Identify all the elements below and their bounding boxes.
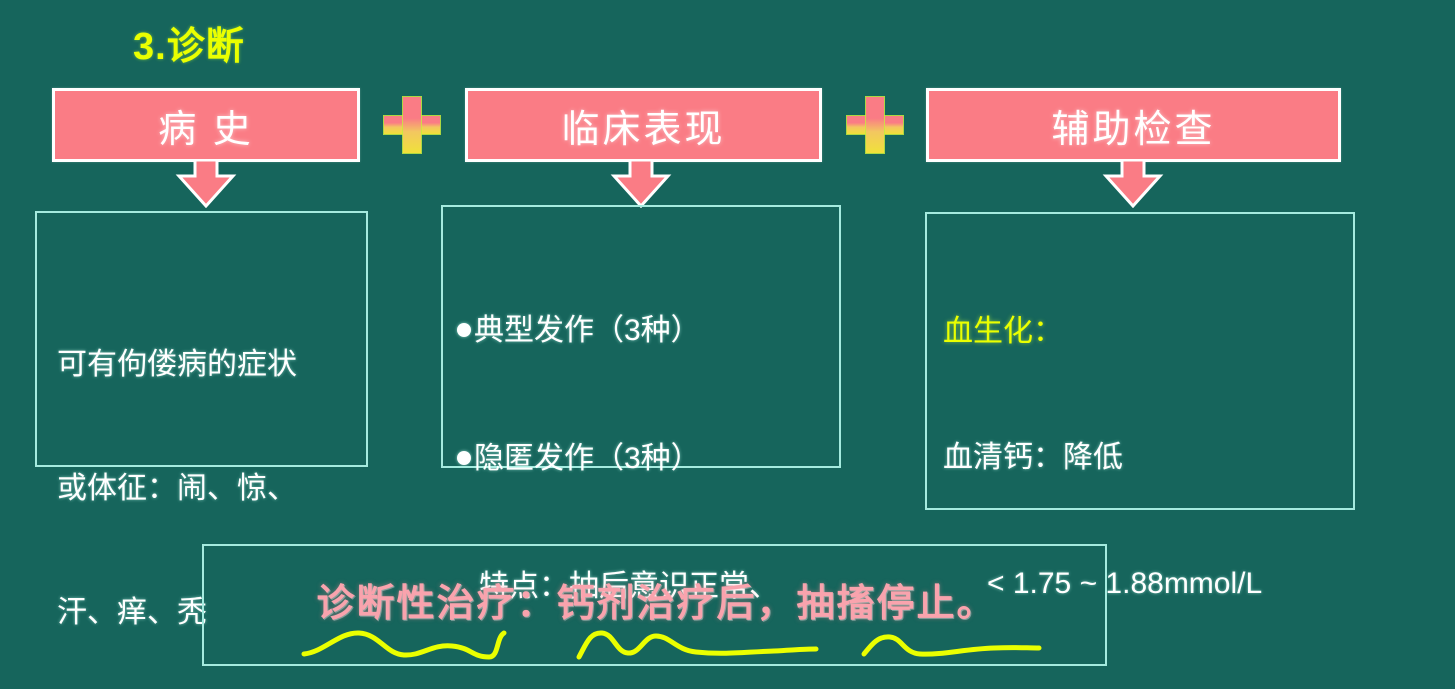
down-arrow-icon: [175, 160, 237, 208]
slide-canvas: 3.诊断 病 史 临床表现 辅助检查 可有佝偻病的症状 或体征：闹: [0, 0, 1455, 689]
plus-icon: [384, 97, 440, 153]
header-box-clinical[interactable]: 临床表现: [465, 88, 822, 162]
page-title: 3.诊断: [133, 15, 245, 70]
header-label-history: 病 史: [158, 98, 254, 153]
auxiliary-line-1: 血清钙：降低: [943, 437, 1353, 478]
bullet-dot-icon: [457, 323, 471, 337]
header-label-clinical: 临床表现: [561, 98, 725, 153]
clinical-bullet-2-label: 隐匿发作（3种）: [474, 442, 701, 475]
down-arrow-icon: [610, 160, 672, 208]
header-box-history[interactable]: 病 史: [52, 88, 360, 162]
content-box-auxiliary: 血生化： 血清钙：降低 < 1.75 ~ 1.88mmol/L 离子钙：降低 <…: [925, 212, 1355, 510]
header-box-auxiliary[interactable]: 辅助检查: [926, 88, 1341, 162]
diagnostic-treatment-text: 诊断性治疗：钙剂治疗后，抽搐停止。: [204, 572, 1109, 627]
clinical-bullet-item: 典型发作（3种）: [457, 310, 832, 351]
history-line-1: 可有佝偻病的症状: [57, 344, 357, 385]
content-box-history: 可有佝偻病的症状 或体征：闹、惊、 汗、痒、秃: [35, 211, 368, 467]
header-label-auxiliary: 辅助检查: [1051, 98, 1215, 153]
plus-icon-bar-vertical: [866, 97, 884, 153]
plus-icon-bar-vertical: [403, 97, 421, 153]
clinical-bullet-item: 隐匿发作（3种）: [457, 438, 832, 479]
down-arrow-icon: [1102, 160, 1164, 208]
content-box-diagnostic-treatment: 诊断性治疗：钙剂治疗后，抽搐停止。: [202, 544, 1107, 666]
clinical-bullet-1-label: 典型发作（3种）: [474, 314, 701, 347]
history-line-2: 或体征：闹、惊、: [57, 468, 357, 509]
bullet-dot-icon: [457, 451, 471, 465]
plus-icon: [847, 97, 903, 153]
content-box-clinical: 典型发作（3种） 隐匿发作（3种） 特点：抽后意识正常、 玩耍如常、不发热: [441, 205, 841, 468]
squiggly-underline-group: [204, 624, 1109, 664]
auxiliary-heading: 血生化：: [943, 311, 1353, 352]
